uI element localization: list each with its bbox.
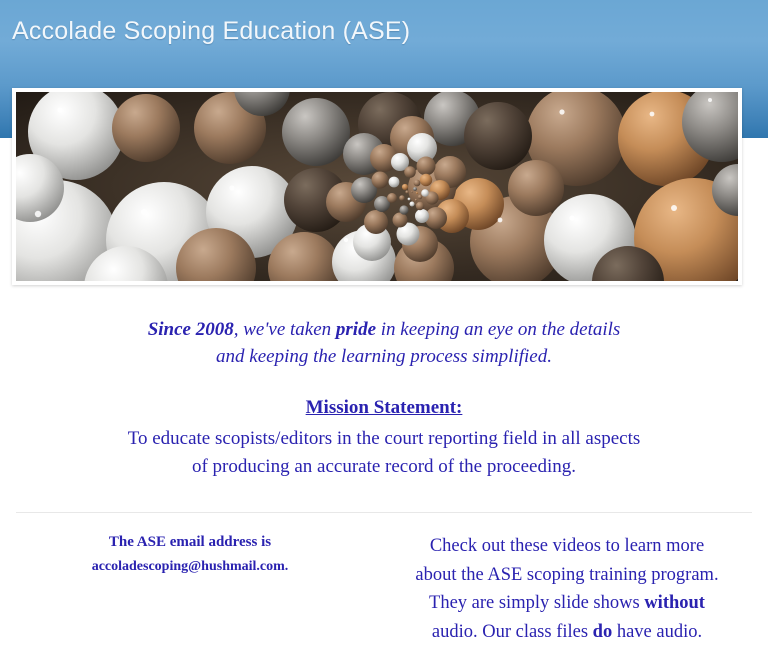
videos-line-4-post: have audio. [612,622,702,642]
contact-column: The ASE email address is accoladescoping… [0,532,380,577]
mission-line-1: To educate scopists/editors in the court… [128,428,641,449]
tagline-bold-since: Since 2008 [148,319,234,340]
videos-column: Check out these videos to learn more abo… [380,532,768,647]
hero-image-frame [12,88,742,285]
hero-illustration-svg [16,92,738,281]
marble-spheres-fractal-image [16,92,738,281]
tagline-line-2: and keeping the learning process simplif… [216,346,552,367]
section-divider [16,512,752,513]
tagline-mid-2: in keeping an eye on the details [376,319,620,340]
tagline-text: Since 2008, we've taken pride in keeping… [0,317,768,371]
email-address[interactable]: accoladescoping@hushmail.com. [26,557,354,577]
mission-line-2: of producing an accurate record of the p… [192,456,576,477]
email-label: The ASE email address is [26,532,354,554]
mission-statement-heading: Mission Statement: [0,397,768,419]
videos-bold-do: do [593,622,613,642]
videos-description: Check out these videos to learn more abo… [388,532,746,647]
main-content: Since 2008, we've taken pride in keeping… [0,285,768,647]
videos-line-4-pre: audio. Our class files [432,622,593,642]
videos-line-3-pre: They are simply slide shows [429,593,644,613]
tagline-mid-1: , we've taken [234,319,336,340]
videos-line-2: about the ASE scoping training program. [415,565,718,585]
videos-line-1: Check out these videos to learn more [430,536,704,556]
bottom-columns: The ASE email address is accoladescoping… [0,532,768,647]
mission-statement-body: To educate scopists/editors in the court… [0,425,768,482]
page-title: Accolade Scoping Education (ASE) [12,17,410,46]
tagline-bold-pride: pride [336,319,376,340]
videos-bold-without: without [644,593,705,613]
